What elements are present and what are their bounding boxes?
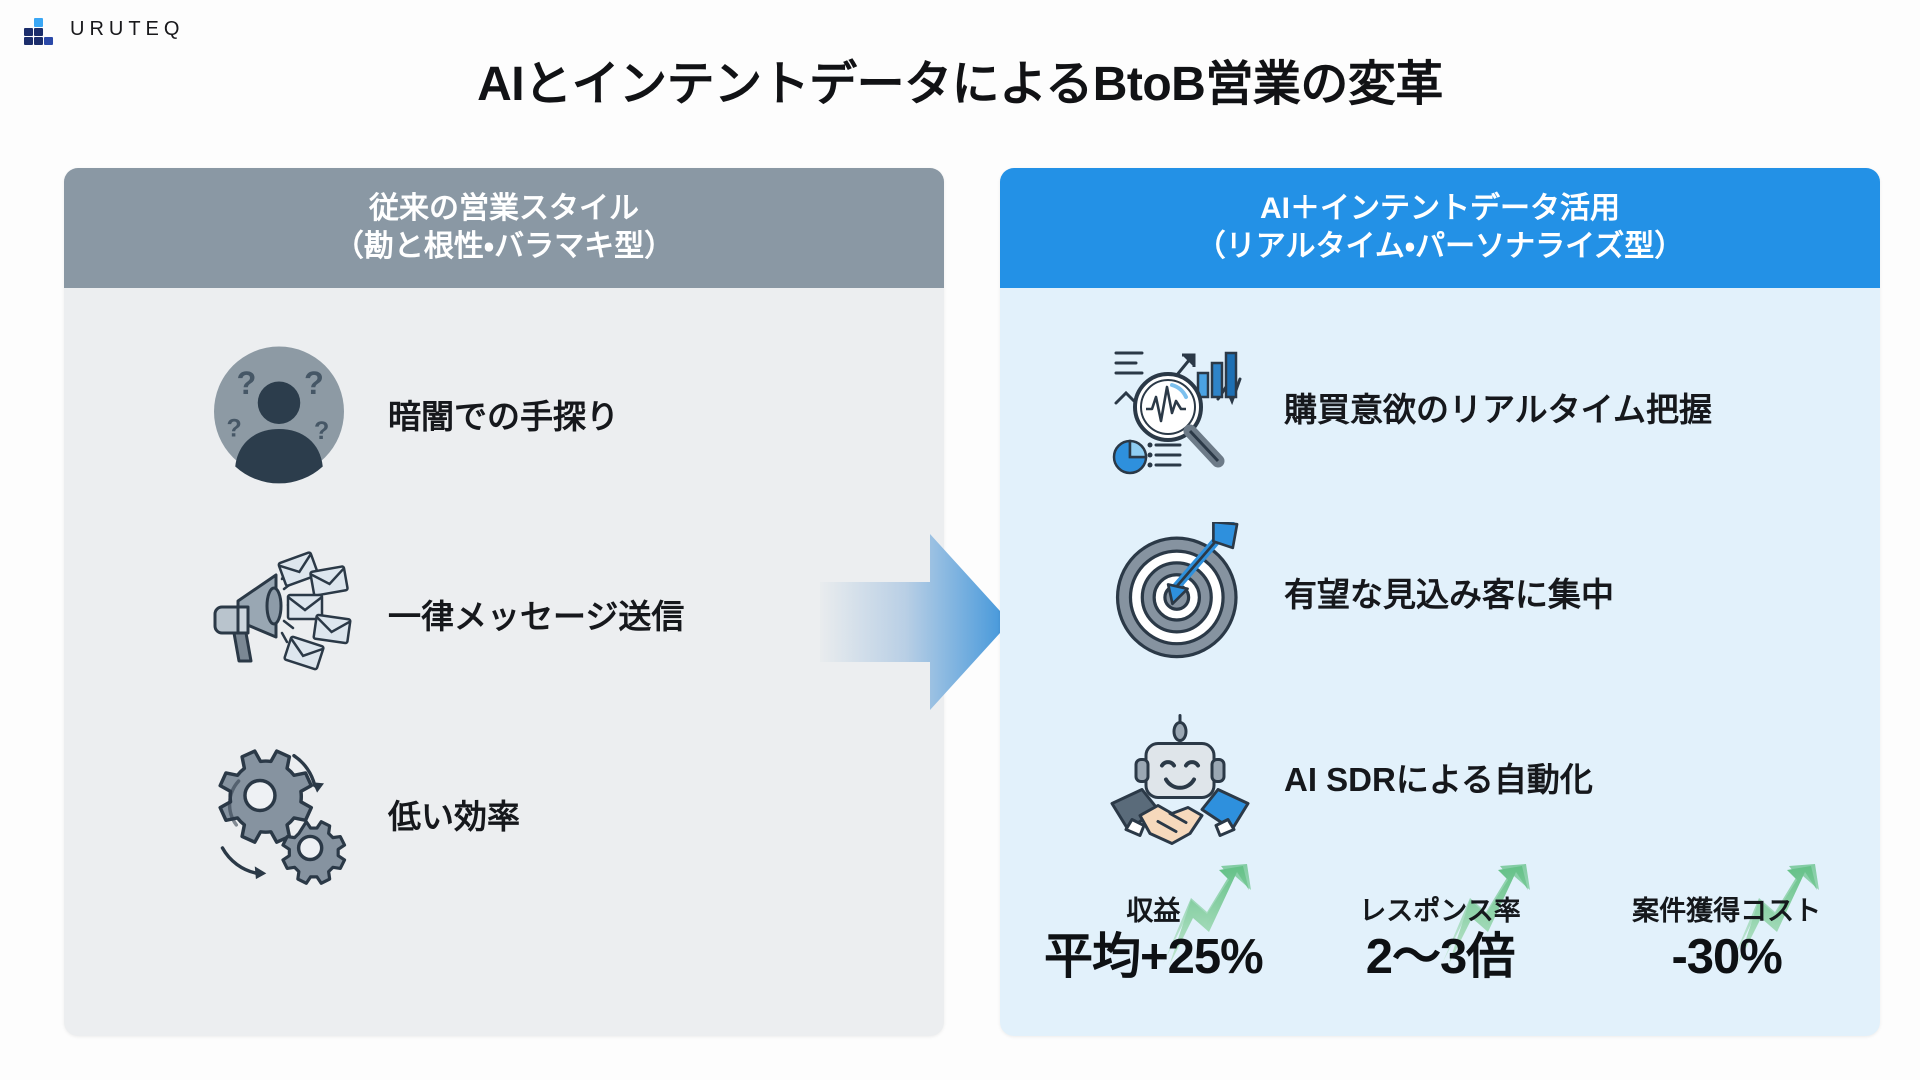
panel-left-items: ? ? ? ? 暗闇での手探り [64,288,944,914]
kpi-value: 2〜3倍 [1310,929,1570,985]
target-arrow-icon [1110,522,1250,662]
kpi-response-rate: レスポンス率 2〜3倍 [1310,880,1570,985]
panel-left-header-line1: 従来の営業スタイル [369,190,639,228]
panel-left-header: 従来の営業スタイル （勘と根性・バラマキ型） [64,168,944,288]
list-item: 一律メッセージ送信 [64,514,944,714]
list-item-label: AI SDRによる自動化 [1284,753,1593,801]
panel-right-items: 購買意欲のリアルタイム把握 有望な見込み [1000,288,1880,869]
transition-arrow-icon [820,530,1010,715]
panel-right-header-line2: （リアルタイム・パーソナライズ型） [1196,228,1684,266]
kpi-value: 平均+25% [1023,929,1283,985]
panel-traditional-sales: 従来の営業スタイル （勘と根性・バラマキ型） ? ? ? ? 暗闇での手探り [64,168,944,1036]
brand-logo: URUTEQ [24,14,184,44]
panel-left-header-line2: （勘と根性・バラマキ型） [334,228,674,266]
kpi-acquisition-cost: 案件獲得コスト -30% [1597,880,1857,985]
gears-icon [204,739,354,889]
svg-text:?: ? [314,417,329,445]
panel-right-header: AI＋インテントデータ活用 （リアルタイム・パーソナライズ型） [1000,168,1880,288]
list-item-label: 購買意欲のリアルタイム把握 [1284,383,1712,431]
svg-text:?: ? [304,365,324,401]
list-item: 低い効率 [64,714,944,914]
list-item-label: 低い効率 [388,790,520,838]
magnifier-analytics-icon [1110,337,1250,477]
brand-name: URUTEQ [70,18,184,41]
list-item-label: 有望な見込み客に集中 [1284,568,1614,616]
list-item: 購買意欲のリアルタイム把握 [1000,314,1880,499]
kpi-label: 収益 [1023,898,1283,925]
kpi-value: -30% [1597,929,1857,985]
kpi-row: 収益 平均+25% レスポンス率 2〜3倍 案件獲得コスト -30% [1010,880,1870,1030]
list-item-label: 一律メッセージ送信 [388,590,684,638]
slide-canvas: URUTEQ AIとインテントデータによるBtoB営業の変革 従来の営業スタイル… [0,0,1920,1080]
list-item: AI SDRによる自動化 [1000,684,1880,869]
list-item: ? ? ? ? 暗闇での手探り [64,314,944,514]
svg-text:?: ? [237,365,257,401]
kpi-revenue: 収益 平均+25% [1023,880,1283,985]
robot-handshake-icon [1110,707,1250,847]
uruteq-mark-icon [24,14,58,44]
list-item: 有望な見込み客に集中 [1000,499,1880,684]
megaphone-mail-icon [204,539,354,689]
question-person-icon: ? ? ? ? [204,339,354,489]
svg-text:?: ? [227,415,242,443]
list-item-label: 暗闇での手探り [388,390,619,438]
kpi-label: レスポンス率 [1310,898,1570,925]
page-title: AIとインテントデータによるBtoB営業の変革 [0,44,1920,114]
panel-right-header-line1: AI＋インテントデータ活用 [1260,190,1620,228]
kpi-label: 案件獲得コスト [1597,898,1857,925]
